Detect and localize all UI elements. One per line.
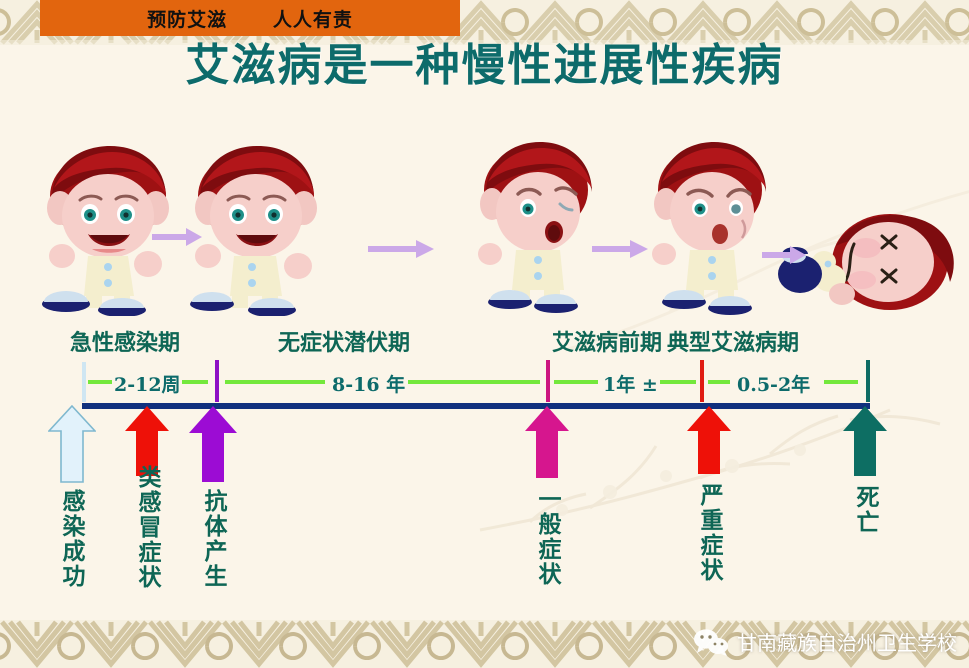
stage-label-aids: 典型艾滋病期 xyxy=(667,325,799,357)
event-label-death: 死亡 xyxy=(852,485,878,535)
transition-arrow-4 xyxy=(762,244,806,266)
wechat-watermark: 甘南藏族自治州卫生学校 xyxy=(693,627,957,656)
page-title: 艾滋病是一种慢性进展性疾病 xyxy=(0,40,969,92)
connector-line-2a xyxy=(225,380,325,384)
event-arrow-severe-symptoms xyxy=(686,405,732,475)
tick-divider-pre-aids xyxy=(546,360,550,402)
duration-latent: 8-16 年 xyxy=(332,370,405,397)
connector-line-4b xyxy=(824,380,858,384)
figure-symptomatic-child-3 xyxy=(468,132,608,314)
transition-arrow-3 xyxy=(592,238,648,260)
wechat-icon xyxy=(693,628,729,656)
stage-label-latent: 无症状潜伏期 xyxy=(278,325,410,357)
stage-label-row: 急性感染期 无症状潜伏期 艾滋病前期 典型艾滋病期 xyxy=(0,325,969,357)
event-label-general-symptoms: 一般症状 xyxy=(534,487,560,587)
duration-band: 2-12周 8-16 年 1年 ± 0.5-2年 xyxy=(0,360,969,402)
duration-pre-aids: 1年 ± xyxy=(603,370,658,397)
wechat-watermark-text: 甘南藏族自治州卫生学校 xyxy=(737,627,957,656)
slogan-banner: 预防艾滋 人人有责 xyxy=(40,0,460,36)
tick-divider-antibody xyxy=(215,360,219,402)
slide-canvas: 预防艾滋 人人有责 艾滋病是一种慢性进展性疾病 xyxy=(0,0,969,668)
figure-sick-child-4 xyxy=(642,134,782,316)
event-arrow-antibody-production xyxy=(188,405,238,483)
event-label-flu-symptoms: 类感冒症状 xyxy=(134,465,160,590)
duration-acute: 2-12周 xyxy=(114,370,181,397)
connector-line-4a xyxy=(708,380,730,384)
connector-line-3a xyxy=(554,380,598,384)
event-label-antibody-production: 抗体产生 xyxy=(200,489,226,589)
event-arrow-infection-success xyxy=(48,405,96,483)
stage-label-pre-aids: 艾滋病前期 xyxy=(552,325,662,357)
tick-divider-start xyxy=(82,362,86,402)
connector-line-1a xyxy=(88,380,112,384)
tick-divider-death xyxy=(866,360,870,402)
connector-line-3b xyxy=(660,380,696,384)
slogan-banner-text: 预防艾滋 人人有责 xyxy=(147,5,353,32)
duration-aids: 0.5-2年 xyxy=(737,370,810,397)
event-arrow-death xyxy=(842,405,888,477)
event-label-severe-symptoms: 严重症状 xyxy=(696,483,722,583)
tick-divider-severe xyxy=(700,360,704,402)
event-label-infection-success: 感染成功 xyxy=(58,489,84,589)
event-arrow-general-symptoms xyxy=(524,405,570,479)
stage-label-acute: 急性感染期 xyxy=(70,325,180,357)
connector-line-1b xyxy=(182,380,208,384)
transition-arrow-1 xyxy=(152,226,202,248)
connector-line-2b xyxy=(408,380,540,384)
transition-arrow-2 xyxy=(368,238,434,260)
progression-figure-row xyxy=(0,118,969,323)
